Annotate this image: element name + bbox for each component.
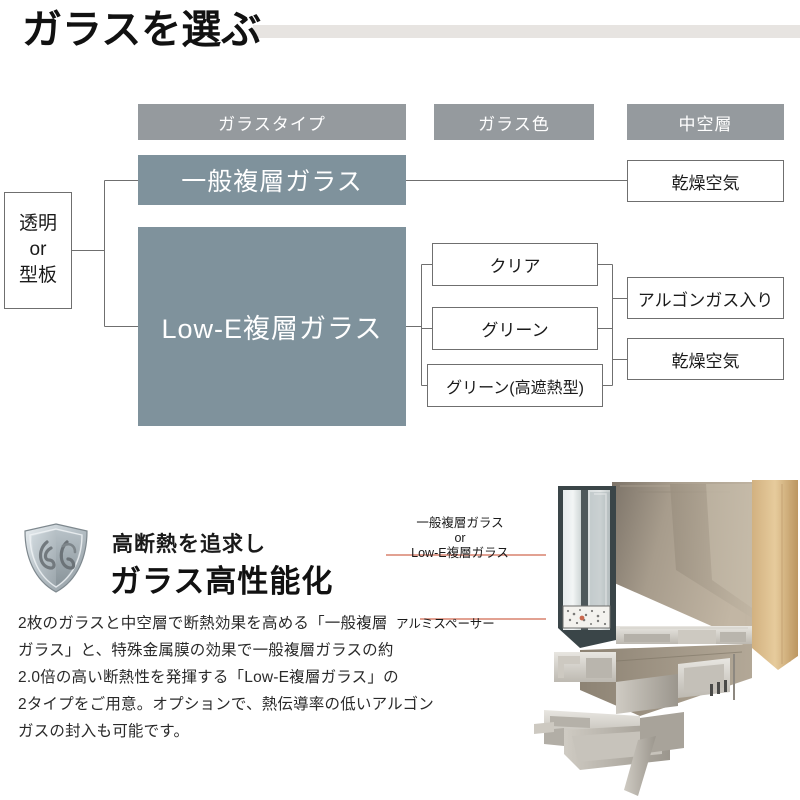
column-header-air-gap: 中空層 — [627, 104, 784, 140]
feature-body-text: 2枚のガラスと中空層で断熱効果を高める「一般複層 ガラス」と、特殊金属膜の効果で… — [18, 610, 386, 745]
node-color-green-heatshield: グリーン(高遮熱型) — [427, 364, 603, 407]
annotation-glass-unit: 一般複層ガラス or Low-E複層ガラス — [392, 516, 528, 561]
annotation-glass-line3: Low-E複層ガラス — [392, 546, 528, 561]
feature-body-line: 2.0倍の高い断熱性を発揮する「Low-E複層ガラス」の — [18, 664, 386, 691]
node-gap-dry-air-lowe: 乾燥空気 — [627, 338, 784, 380]
source-option-patterned: 型板 — [19, 266, 57, 287]
node-color-green: グリーン — [432, 307, 598, 350]
glass-selection-flowchart: ガラスタイプ ガラス色 中空層 透明 or 型板 一般複層ガラス Low-E複層… — [0, 0, 800, 470]
node-gap-argon-gas: アルゴンガス入り — [627, 277, 784, 319]
source-option-or: or — [30, 240, 47, 261]
source-option-transparent: 透明 — [19, 214, 57, 235]
column-header-glass-type: ガラスタイプ — [138, 104, 406, 140]
feature-body-line: 2枚のガラスと中空層で断熱効果を高める「一般複層 — [18, 610, 386, 637]
photo-annotation-leaders — [380, 478, 580, 678]
node-glass-surface-options: 透明 or 型板 — [4, 192, 72, 309]
node-color-clear: クリア — [432, 243, 598, 286]
annotation-aluminium-spacer: アルミスペーサー — [396, 617, 495, 632]
node-lowe-double-glazing: Low-E複層ガラス — [138, 227, 406, 426]
node-general-double-glazing: 一般複層ガラス — [138, 155, 406, 205]
feature-subheading: 高断熱を追求し — [112, 528, 266, 558]
column-header-glass-color: ガラス色 — [434, 104, 594, 140]
feature-body-line: ガラス」と、特殊金属膜の効果で一般複層ガラスの約 — [18, 637, 386, 664]
shield-icon — [22, 522, 90, 594]
annotation-glass-line1: 一般複層ガラス — [392, 516, 528, 531]
annotation-glass-line2: or — [392, 531, 528, 546]
node-gap-dry-air-general: 乾燥空気 — [627, 160, 784, 202]
feature-body-line: 2タイプをご用意。オプションで、熱伝導率の低いアルゴン — [18, 691, 386, 718]
feature-heading: ガラス高性能化 — [110, 556, 333, 601]
feature-body-line: ガスの封入も可能です。 — [18, 718, 386, 745]
